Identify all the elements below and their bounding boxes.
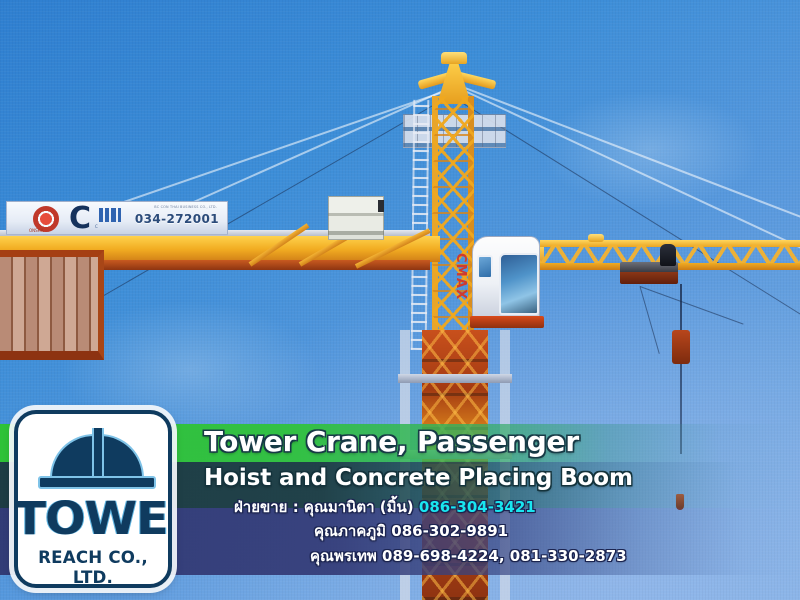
crane-apex-cap (441, 52, 467, 64)
hoist-guy-line-down (640, 286, 660, 354)
mast-ladder (411, 100, 430, 350)
contact-line-1: ฝ่ายขาย : คุณมานิตา (มิ้น) 086-304-3421 (234, 498, 536, 517)
advertisement-image: ONSHA C C BC CON THAI BUSINESS CO., LTD.… (0, 0, 800, 600)
board-sub-label: C (95, 224, 98, 229)
board-letter-mark: C (69, 205, 93, 233)
cabin-side-window (477, 255, 493, 279)
mast-platform (398, 374, 512, 383)
headline-line-2: Hoist and Concrete Placing Boom (204, 464, 633, 492)
board-bar-logo-icon (99, 208, 121, 222)
hoist-guy-line-right (640, 286, 744, 325)
board-tagline: BC CON THAI BUSINESS CO., LTD. (154, 205, 217, 209)
crane-advertising-board: ONSHA C C BC CON THAI BUSINESS CO., LTD.… (6, 201, 228, 235)
contact-phone-3: 089-698-4224, 081-330-2873 (382, 547, 627, 565)
pendant-cable-right (452, 82, 800, 238)
board-phone-number: 034-272001 (135, 212, 219, 226)
contact-label-2: คุณภาคภูมิ (314, 522, 391, 540)
contact-label-3: คุณพรเทพ (310, 547, 382, 565)
machinery-box-detail (378, 200, 384, 212)
contact-phone-1: 086-304-3421 (419, 498, 536, 516)
contact-line-2: คุณภาคภูมิ 086-302-9891 (314, 522, 508, 541)
trolley-machinery (660, 244, 676, 266)
contact-line-3: คุณพรเทพ 089-698-4224, 081-330-2873 (310, 547, 627, 566)
logo-company-name: TOWER (14, 496, 172, 541)
cabin-brand-label: CMAX (453, 253, 468, 307)
contact-phone-2: 086-302-9891 (391, 522, 508, 540)
hard-hat-dome-right (100, 434, 144, 478)
hard-hat-brim (38, 476, 156, 489)
hook-block (672, 330, 690, 364)
cabin-support-base (470, 316, 544, 328)
headline-line-1: Tower Crane, Passenger (204, 425, 579, 459)
jib-top-fitting (588, 234, 604, 242)
machinery-counterweight-stack (328, 196, 384, 240)
contact-label-1: ฝ่ายขาย : คุณมานิตา (มิ้น) (234, 498, 419, 516)
counterweight-block (0, 250, 104, 360)
hard-hat-ridge (92, 428, 104, 478)
hard-hat-dome-left (50, 434, 94, 478)
hard-hat-icon (42, 428, 152, 484)
logo-company-subtitle: REACH CO., LTD. (20, 548, 167, 588)
cabin-windshield (499, 253, 539, 315)
operator-cabin: CMAX (472, 236, 540, 322)
board-seal-label: ONSHA (29, 228, 43, 233)
company-logo-card: TOWER REACH CO., LTD. (14, 410, 172, 588)
